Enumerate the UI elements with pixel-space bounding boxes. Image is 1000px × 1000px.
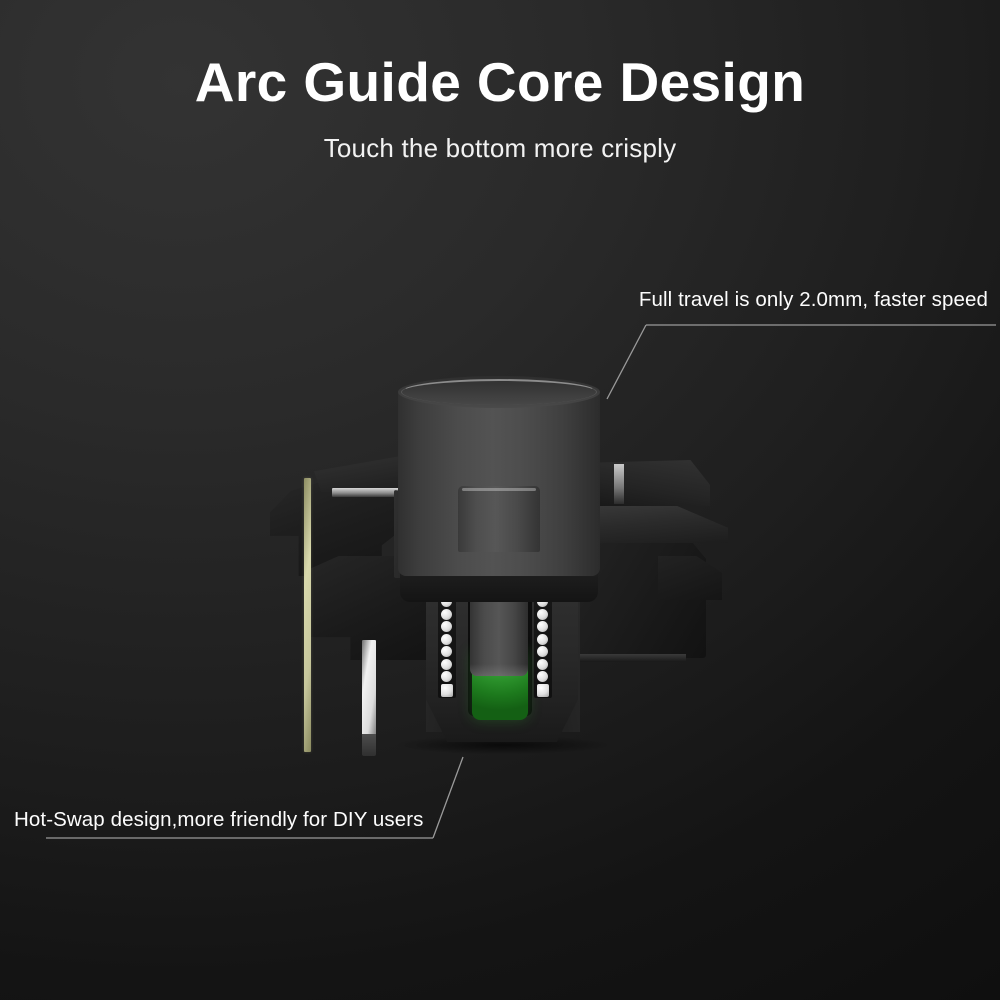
right-metal-notch: [614, 464, 624, 504]
spring-coil-turn: [537, 634, 548, 645]
spring-coil-turn: [441, 609, 452, 620]
switch-cross-section-illustration: [258, 360, 728, 760]
silver-contact-pin: [362, 640, 376, 738]
page-title: Arc Guide Core Design: [0, 52, 1000, 113]
spring-coil-turn: [537, 621, 548, 632]
spring-coil-turn: [537, 609, 548, 620]
right-housing-edge: [574, 654, 686, 662]
right-housing-foot: [658, 556, 722, 600]
product-feature-banner: Arc Guide Core Design Touch the bottom m…: [0, 0, 1000, 1000]
stem-upper: [458, 486, 540, 552]
spring-coil-turn: [537, 684, 549, 697]
callout-label-full-travel: Full travel is only 2.0mm, faster speed: [639, 288, 988, 312]
spring-coil-turn: [441, 684, 453, 697]
spring-coil-turn: [441, 621, 452, 632]
spring-coil-turn: [537, 659, 548, 670]
page-subtitle: Touch the bottom more crisply: [0, 133, 1000, 164]
upper-housing-rim-highlight: [401, 379, 597, 405]
gold-contact-pin: [304, 478, 311, 752]
spring-coil-turn: [537, 646, 548, 657]
callout-label-hot-swap: Hot-Swap design,more friendly for DIY us…: [14, 808, 424, 832]
spring-coil-turn: [441, 634, 452, 645]
silver-contact-pin-tip: [362, 734, 376, 756]
spring-coil-turn: [441, 646, 452, 657]
spring-coil-turn: [537, 671, 548, 682]
spring-coil-turn: [441, 671, 452, 682]
right-housing-top: [588, 460, 710, 506]
spring-coil-turn: [441, 659, 452, 670]
